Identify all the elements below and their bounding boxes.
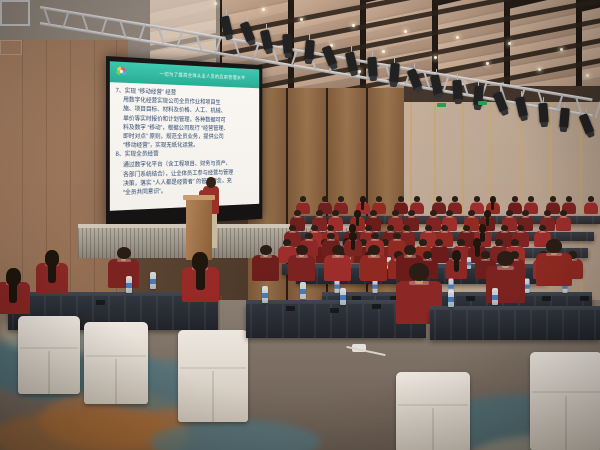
attendee-head [497, 251, 514, 266]
attendee-head [550, 196, 556, 201]
attendee-ponytail [491, 202, 494, 210]
table-skirt-fold [592, 216, 594, 224]
seated-attendee [584, 196, 598, 214]
attendee-head [296, 245, 308, 255]
attendee-torso [536, 253, 572, 287]
attendee-head [423, 251, 432, 259]
attendee-head [365, 225, 373, 232]
attendee-head [332, 245, 344, 255]
attendee-head [393, 233, 401, 240]
table-skirt-fold [314, 304, 316, 338]
seated-attendee [36, 250, 68, 294]
attendee-head [117, 247, 131, 259]
attendee-head [260, 245, 272, 255]
attendee-head [404, 245, 416, 255]
attendee-head [403, 225, 411, 232]
attendee-torso [288, 255, 315, 281]
attendee-ponytail [361, 202, 364, 210]
attendee-head [528, 196, 534, 201]
table-skirt-fold [362, 304, 364, 338]
table-skirt-fold [562, 310, 564, 340]
water-bottle [300, 282, 306, 299]
banquet-chair [396, 372, 470, 450]
conference-hall-photo: 一切为了提高全体从业人员的应用管理水平 7、实现 “移动经营” 经营用数字化经营… [0, 0, 600, 450]
table-skirt-fold [346, 304, 348, 338]
table-skirt-fold [220, 296, 222, 330]
table-skirt-fold [594, 310, 596, 340]
chair-cover-seam [532, 391, 600, 393]
chair-cover-fold [212, 371, 214, 422]
attendee-head [300, 196, 306, 201]
table-skirt-fold [514, 310, 516, 340]
table-skirt-fold [482, 310, 484, 340]
attendee-head [398, 196, 404, 201]
attendee-torso [108, 259, 139, 288]
table-skirt-fold [546, 310, 548, 340]
attendee-head [457, 239, 465, 246]
attendee-head [512, 196, 518, 201]
chair-cover-seam [398, 404, 468, 406]
banquet-chair [18, 316, 80, 394]
attendee-ponytail [351, 240, 355, 250]
seated-attendee [324, 244, 351, 281]
chair-cover-fold [432, 408, 434, 450]
table-skirt-fold [434, 310, 436, 340]
table-skirt-fold [172, 296, 174, 330]
attendee-head [414, 196, 420, 201]
attendee-head [546, 239, 562, 253]
table-skirt-fold [298, 304, 300, 338]
attendee-head [436, 196, 442, 201]
attendee-head [289, 225, 297, 232]
table-skirt-fold [316, 268, 318, 284]
seated-attendee [0, 268, 30, 314]
attendee-head [305, 233, 313, 240]
attendee-head [376, 196, 382, 201]
exit-sign [478, 101, 487, 105]
table-skirt-fold [466, 310, 468, 340]
attendee-torso [556, 216, 571, 230]
attendee-head [327, 233, 335, 240]
banquet-chair [84, 322, 148, 404]
attendee-head [588, 196, 594, 201]
table-skirt-fold [156, 296, 158, 330]
water-bottle [448, 290, 454, 307]
attendee-torso [252, 255, 279, 281]
water-bottle [467, 257, 471, 269]
attendee-ponytail [9, 283, 17, 303]
seated-attendee [288, 244, 315, 281]
smartphone [330, 308, 339, 313]
attendee-head [327, 225, 335, 232]
chair-cover-fold [48, 351, 50, 394]
table-skirt-fold [378, 304, 380, 338]
water-bottle [492, 288, 498, 305]
attendee-head [311, 225, 319, 232]
smartphone [542, 296, 551, 301]
table-skirt-fold [576, 216, 578, 224]
attendee-head [566, 196, 572, 201]
water-bottle [126, 276, 132, 293]
table-skirt-fold [578, 310, 580, 340]
seated-attendee [446, 250, 467, 279]
table-skirt-fold [450, 310, 452, 340]
chair-cover-seam [180, 367, 246, 369]
banquet-chair [530, 352, 600, 450]
table-skirt-fold [266, 304, 268, 338]
seated-attendee [360, 244, 387, 281]
attendee-torso [324, 255, 351, 281]
chair-cover-fold [115, 359, 117, 404]
attendee-ponytail [48, 264, 56, 283]
table-skirt-fold [384, 216, 386, 224]
table-skirt-fold [530, 310, 532, 340]
attendee-head [501, 225, 509, 232]
table-skirt-fold [282, 304, 284, 338]
attendee-ponytail [196, 268, 205, 290]
attendee-head [425, 225, 433, 232]
attendee-torso [584, 202, 598, 215]
audience-area [0, 0, 600, 450]
seated-attendee [556, 210, 571, 231]
seated-attendee [182, 252, 219, 302]
seated-attendee [536, 238, 572, 286]
banquet-chair [178, 330, 248, 422]
chair-cover-seam [86, 355, 146, 357]
chair-cover-fold [565, 396, 567, 450]
attendee-head [517, 225, 525, 232]
table-skirt-fold [586, 232, 588, 241]
water-bottle [150, 272, 156, 289]
attendee-head [474, 196, 480, 201]
table-skirt-fold [498, 310, 500, 340]
table-skirt-fold [250, 304, 252, 338]
attendee-head [322, 196, 328, 201]
attendee-head [368, 245, 380, 255]
conference-table [430, 310, 600, 340]
smartphone [286, 306, 295, 311]
smartphone [466, 296, 475, 301]
smartphone [580, 296, 589, 301]
attendee-head [511, 239, 519, 246]
attendee-head [495, 239, 503, 246]
attendee-head [338, 196, 344, 201]
attendee-head [441, 225, 449, 232]
smartphone [372, 304, 381, 309]
attendee-head [409, 263, 429, 281]
attendee-head [387, 225, 395, 232]
attendee-head [435, 239, 443, 246]
attendee-head [371, 233, 379, 240]
seated-attendee [252, 244, 279, 281]
attendee-head [452, 196, 458, 201]
attendee-torso [360, 255, 387, 281]
water-bottle [340, 288, 346, 305]
attendee-head [539, 225, 547, 232]
attendee-ponytail [454, 259, 459, 271]
seated-attendee [108, 246, 139, 288]
smartphone [96, 300, 105, 305]
chair-cover-seam [20, 347, 78, 349]
water-bottle [262, 286, 268, 303]
water-bottle [524, 279, 529, 293]
attendee-head [463, 225, 471, 232]
exit-sign [437, 103, 446, 107]
table-skirt-fold [496, 216, 498, 224]
